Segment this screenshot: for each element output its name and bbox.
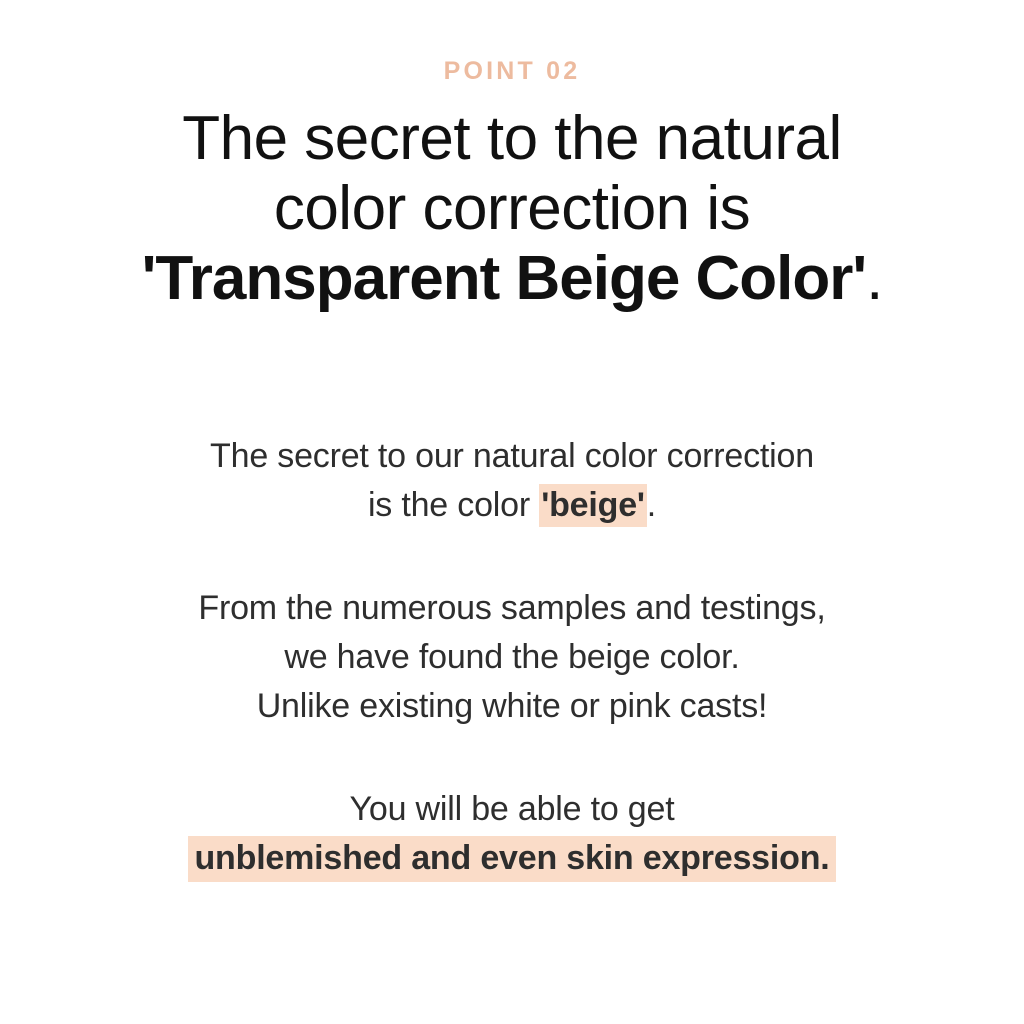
paragraph-1-line-2-after: .	[647, 486, 656, 524]
paragraph-1-line-1: The secret to our natural color correcti…	[32, 432, 992, 481]
paragraph-3-line-1: You will be able to get	[32, 785, 992, 834]
page-title: The secret to the natural color correcti…	[32, 104, 992, 314]
headline-line-3-text: 'Transparent Beige Color'	[142, 244, 867, 313]
paragraph-3-line-2: unblemished and even skin expression.	[32, 834, 992, 883]
headline-line-1: The secret to the natural	[32, 104, 992, 174]
paragraph-1: The secret to our natural color correcti…	[32, 432, 992, 530]
eyebrow-label: POINT 02	[444, 58, 581, 86]
slide-root: POINT 02 The secret to the natural color…	[0, 0, 1024, 1024]
paragraph-1-line-2: is the color 'beige'.	[32, 481, 992, 530]
headline-line-2: color correction is	[32, 174, 992, 244]
paragraph-2-line-1: From the numerous samples and testings,	[32, 584, 992, 633]
headline-line-3-tail: .	[866, 244, 882, 313]
paragraph-2-line-2: we have found the beige color.	[32, 633, 992, 682]
paragraph-2-line-3: Unlike existing white or pink casts!	[32, 682, 992, 731]
highlight-beige: 'beige'	[539, 484, 647, 527]
paragraph-2: From the numerous samples and testings, …	[32, 584, 992, 731]
headline-line-3: 'Transparent Beige Color'.	[32, 244, 992, 314]
paragraph-3: You will be able to get unblemished and …	[32, 785, 992, 883]
highlight-skin-expression: unblemished and even skin expression.	[188, 836, 835, 882]
paragraph-1-line-2-before: is the color	[368, 486, 539, 524]
body-copy: The secret to our natural color correcti…	[32, 432, 992, 883]
